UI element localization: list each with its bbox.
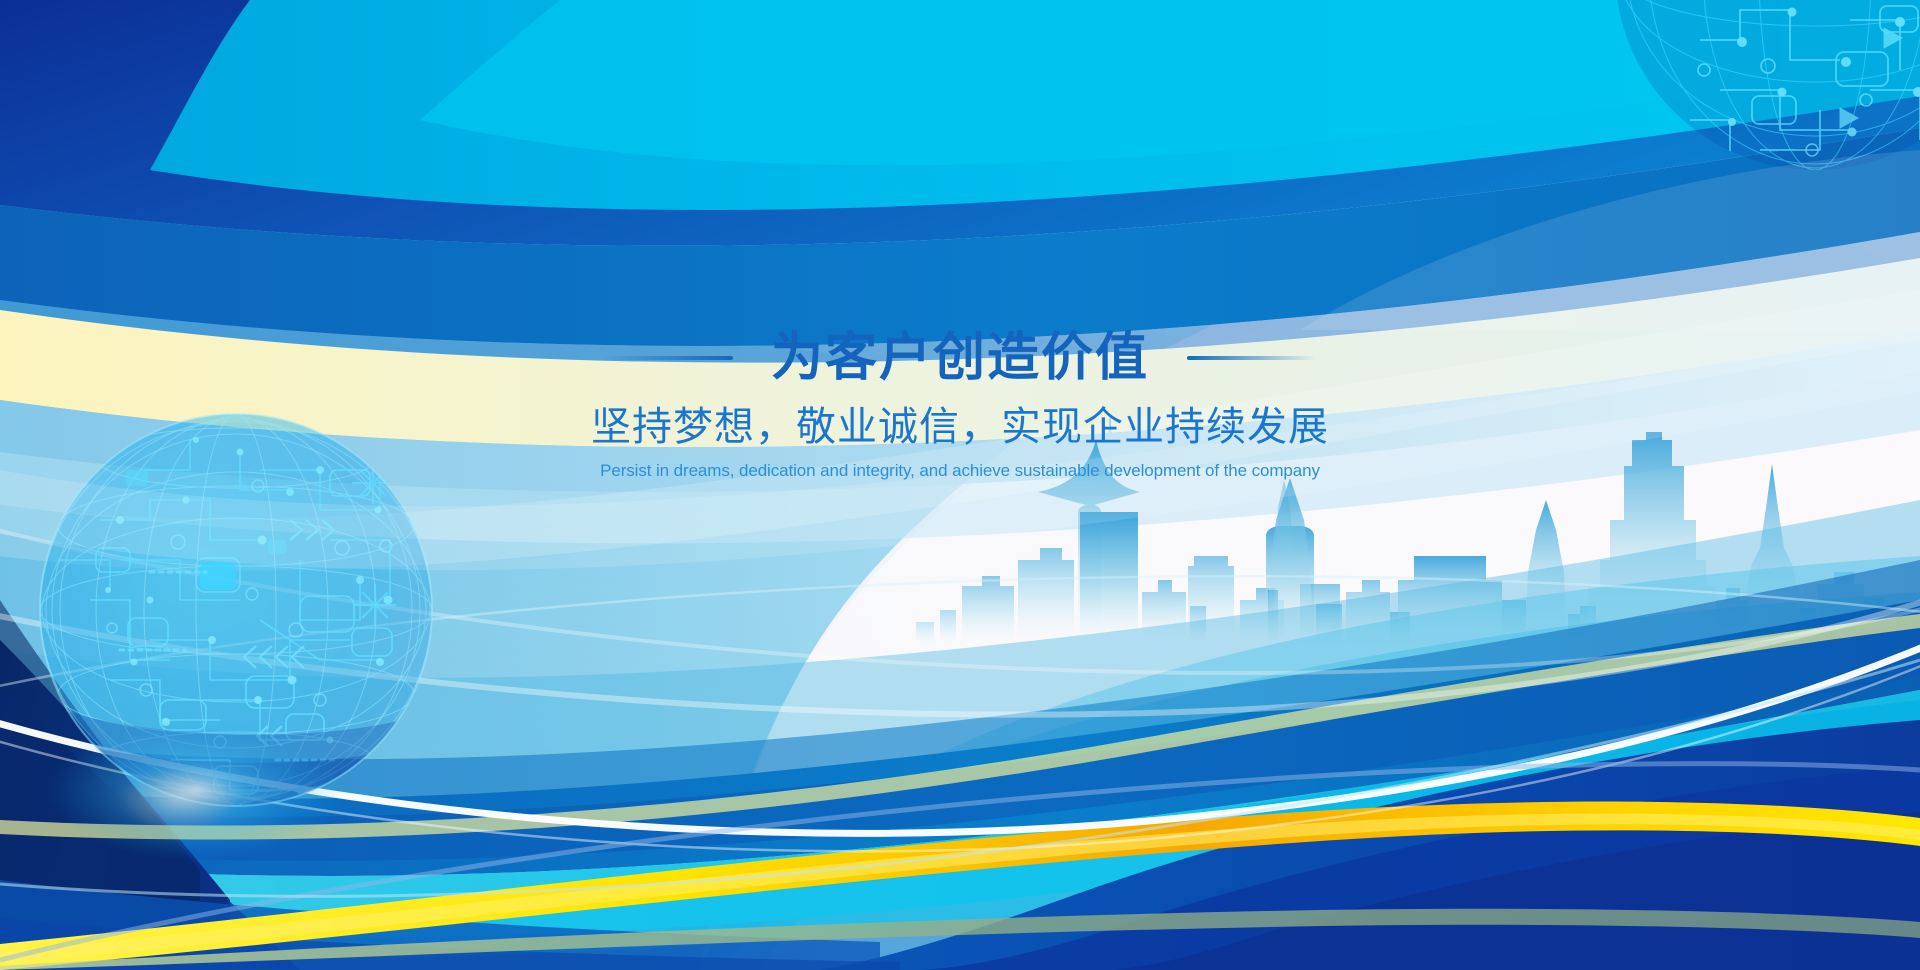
corporate-banner: 为客户创造价值 坚持梦想，敬业诚信，实现企业持续发展 Persist in dr… xyxy=(0,0,1920,970)
background-artwork xyxy=(0,0,1920,970)
